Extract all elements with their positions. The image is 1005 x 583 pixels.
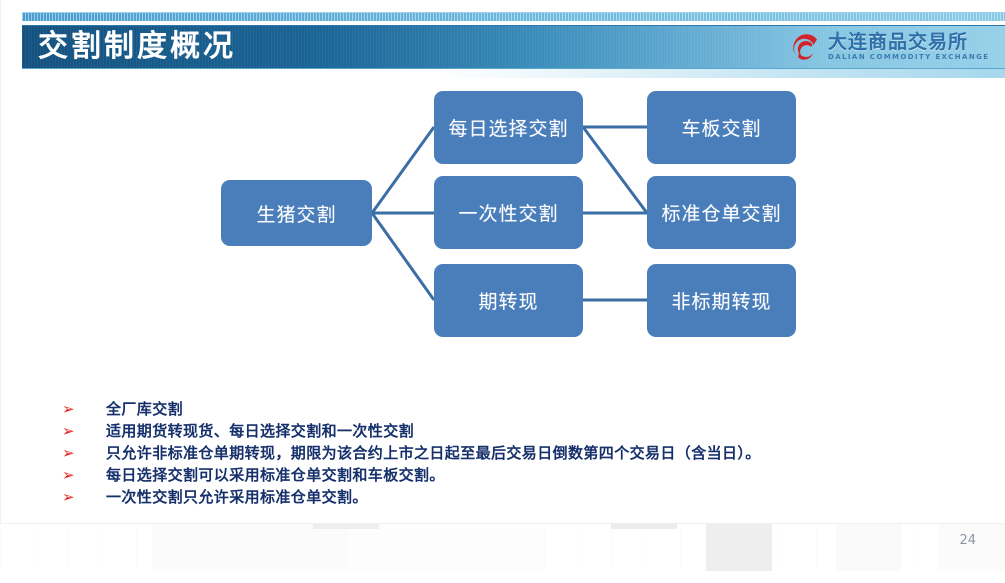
list-item: ➢ 全厂库交割 xyxy=(62,398,962,420)
brand-logo-text: 大连商品交易所 DALIAN COMMODITY EXCHANGE xyxy=(828,33,989,61)
list-item-label: 每日选择交割可以采用标准仓单交割和车板交割。 xyxy=(106,464,445,486)
slide-canvas: 交割制度概况 大连商品交易所 DALIAN COMMODITY EXCHANGE xyxy=(0,0,1005,583)
slide-header: 交割制度概况 大连商品交易所 DALIAN COMMODITY EXCHANGE xyxy=(0,0,1005,78)
diagram-node-nonstandard-futures-to-spot[interactable]: 非标期转现 xyxy=(647,264,796,337)
diagram-node-one-time-delivery[interactable]: 一次性交割 xyxy=(434,176,583,249)
diagram-node-futures-to-spot[interactable]: 期转现 xyxy=(434,264,583,337)
list-item: ➢ 只允许非标准仓单期转现，期限为该合约上市之日起至最后交易日倒数第四个交易日（… xyxy=(62,442,962,464)
arrow-bullet-icon: ➢ xyxy=(62,486,106,508)
list-item: ➢ 每日选择交割可以采用标准仓单交割和车板交割。 xyxy=(62,464,962,486)
edge-root-daily xyxy=(372,127,434,213)
list-item: ➢ 一次性交割只允许采用标准仓单交割。 xyxy=(62,486,962,508)
edge-root-exchange xyxy=(372,213,434,300)
edge-daily-warrant xyxy=(583,127,647,213)
footer-tile xyxy=(152,524,348,571)
arrow-bullet-icon: ➢ xyxy=(62,420,106,442)
page-title: 交割制度概况 xyxy=(38,26,236,68)
arrow-bullet-icon: ➢ xyxy=(62,442,106,464)
delivery-structure-diagram: 生猪交割 每日选择交割 一次性交割 期转现 车板交割 标准仓单交割 非标期转现 xyxy=(0,78,1005,368)
diagram-node-root[interactable]: 生猪交割 xyxy=(221,180,372,246)
page-number: 24 xyxy=(959,533,976,548)
brand-name-cn: 大连商品交易所 xyxy=(828,33,989,52)
arrow-bullet-icon: ➢ xyxy=(62,464,106,486)
dce-swirl-icon xyxy=(786,30,820,64)
diagram-node-standard-warrant-delivery[interactable]: 标准仓单交割 xyxy=(647,176,796,249)
footer-tile xyxy=(836,524,902,571)
brand-logo: 大连商品交易所 DALIAN COMMODITY EXCHANGE xyxy=(786,30,989,64)
footer-tile xyxy=(348,524,544,571)
arrow-bullet-icon: ➢ xyxy=(62,398,106,420)
list-item-label: 适用期货转现货、每日选择交割和一次性交割 xyxy=(106,420,414,442)
diagram-node-daily-selection-delivery[interactable]: 每日选择交割 xyxy=(434,91,583,164)
footer-tile xyxy=(313,523,379,529)
bullet-list: ➢ 全厂库交割 ➢ 适用期货转现货、每日选择交割和一次性交割 ➢ 只允许非标准仓… xyxy=(62,398,962,508)
list-item-label: 全厂库交割 xyxy=(106,398,183,420)
brand-name-en: DALIAN COMMODITY EXCHANGE xyxy=(828,54,989,61)
list-item-label: 只允许非标准仓单期转现，期限为该合约上市之日起至最后交易日倒数第四个交易日（含当… xyxy=(106,442,761,464)
diagram-node-truck-board-delivery[interactable]: 车板交割 xyxy=(647,91,796,164)
list-item-label: 一次性交割只允许采用标准仓单交割。 xyxy=(106,486,368,508)
list-item: ➢ 适用期货转现货、每日选择交割和一次性交割 xyxy=(62,420,962,442)
footer-tile xyxy=(611,523,677,529)
header-bottom-fade xyxy=(22,69,1005,78)
footer-tile xyxy=(706,524,772,571)
slide-footer: 24 xyxy=(0,523,1005,583)
